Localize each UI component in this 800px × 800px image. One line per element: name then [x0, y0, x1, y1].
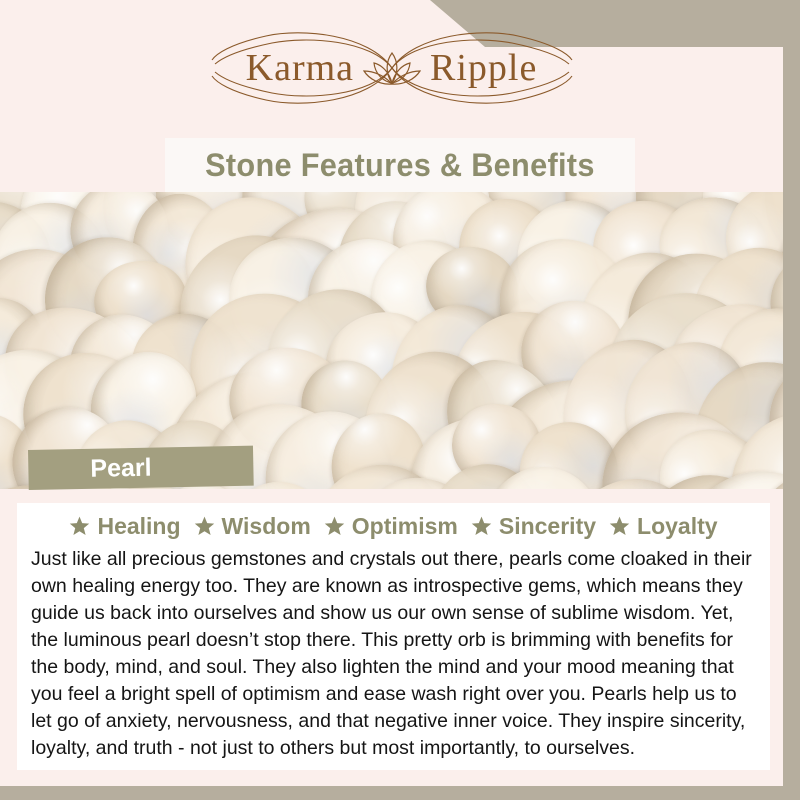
brand-word-left: Karma — [246, 49, 354, 87]
page-title-band: Stone Features & Benefits — [165, 138, 635, 192]
brand-logo[interactable]: Karma Ripple — [0, 26, 783, 110]
benefit-label: Optimism — [352, 513, 458, 540]
benefit-label: Loyalty — [637, 513, 718, 540]
star-icon — [609, 516, 630, 537]
star-icon — [69, 516, 90, 537]
stone-description: Just like all precious gemstones and cry… — [31, 546, 756, 762]
page-title: Stone Features & Benefits — [205, 147, 595, 184]
brand-word-right: Ripple — [430, 49, 537, 87]
stone-name: Pearl — [28, 455, 152, 482]
benefit-label: Healing — [97, 513, 180, 540]
benefit-item: Wisdom — [194, 513, 311, 540]
star-icon — [471, 516, 492, 537]
benefit-label: Sincerity — [499, 513, 596, 540]
stone-info-card: Karma Ripple Stone Features & Benefits P… — [0, 0, 800, 800]
star-icon — [194, 516, 215, 537]
star-icon — [324, 516, 345, 537]
stone-name-banner: Pearl — [28, 446, 254, 490]
benefit-item: Sincerity — [471, 513, 596, 540]
benefits-list: HealingWisdomOptimismSincerityLoyalty — [17, 503, 770, 540]
benefit-item: Optimism — [324, 513, 458, 540]
content-panel: HealingWisdomOptimismSincerityLoyalty Ju… — [17, 503, 770, 770]
benefit-label: Wisdom — [222, 513, 311, 540]
pearls-photo — [0, 192, 783, 489]
benefit-item: Loyalty — [609, 513, 718, 540]
benefit-item: Healing — [69, 513, 180, 540]
